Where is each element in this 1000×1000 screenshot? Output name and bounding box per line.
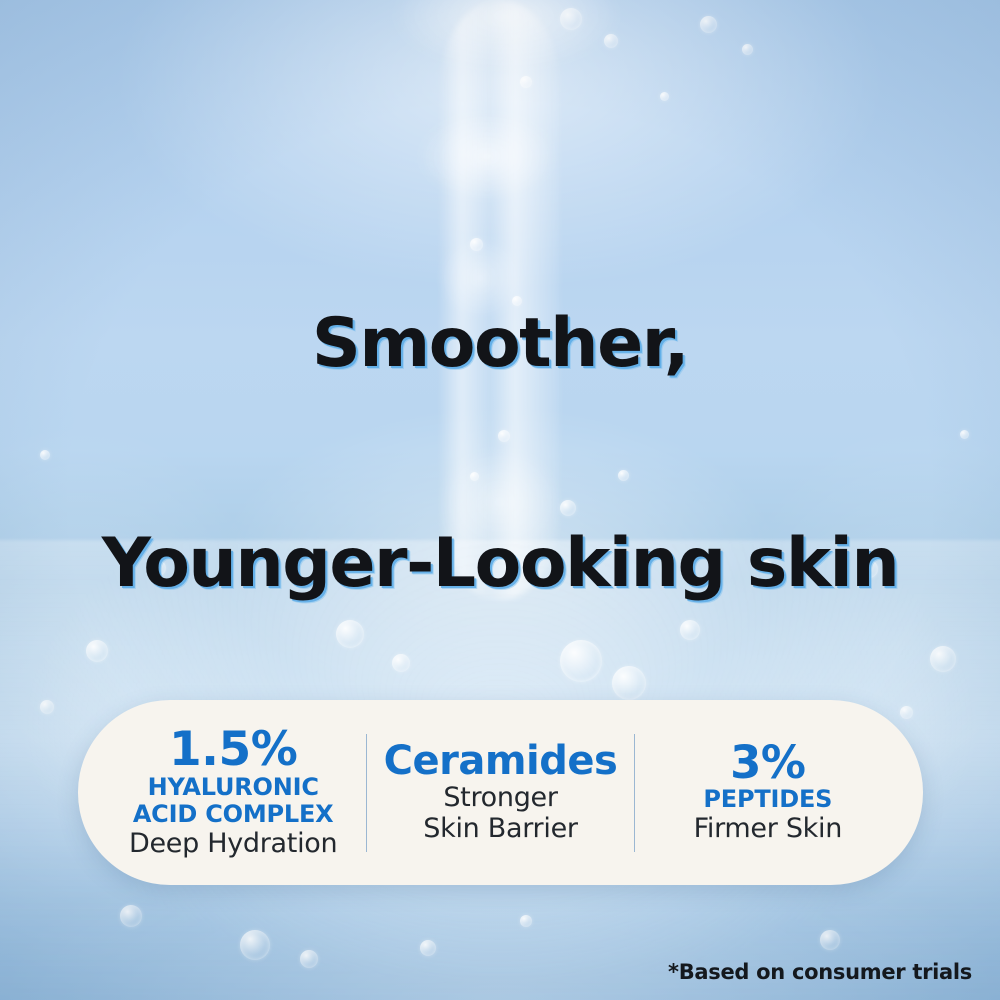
promo-banner: Smoother, Younger-Looking skin in 14 Day… bbox=[0, 0, 1000, 1000]
claim-1-value: 1.5% bbox=[106, 726, 360, 774]
claim-2-benefit-line-1: Stronger bbox=[373, 782, 627, 813]
claim-peptides: 3% PEPTIDES Firmer Skin bbox=[635, 740, 901, 844]
claim-hyaluronic-acid: 1.5% HYALURONIC ACID COMPLEX Deep Hydrat… bbox=[100, 726, 366, 859]
headline-line-2: Younger-Looking skin bbox=[0, 527, 1000, 600]
claim-2-value: Ceramides bbox=[373, 741, 627, 782]
footnote-disclaimer: *Based on consumer trials bbox=[668, 960, 972, 984]
claim-3-name: PEPTIDES bbox=[641, 786, 895, 813]
claim-ceramides: Ceramides Stronger Skin Barrier bbox=[367, 741, 633, 844]
claim-1-name-line-1: HYALURONIC bbox=[106, 774, 360, 801]
claim-3-benefit: Firmer Skin bbox=[641, 813, 895, 844]
claim-1-name-line-2: ACID COMPLEX bbox=[106, 801, 360, 828]
claims-card: 1.5% HYALURONIC ACID COMPLEX Deep Hydrat… bbox=[78, 700, 923, 885]
claim-2-benefit-line-2: Skin Barrier bbox=[373, 813, 627, 844]
claim-1-benefit: Deep Hydration bbox=[106, 828, 360, 859]
claim-3-value: 3% bbox=[641, 740, 895, 786]
headline-line-1: Smoother, bbox=[0, 307, 1000, 380]
